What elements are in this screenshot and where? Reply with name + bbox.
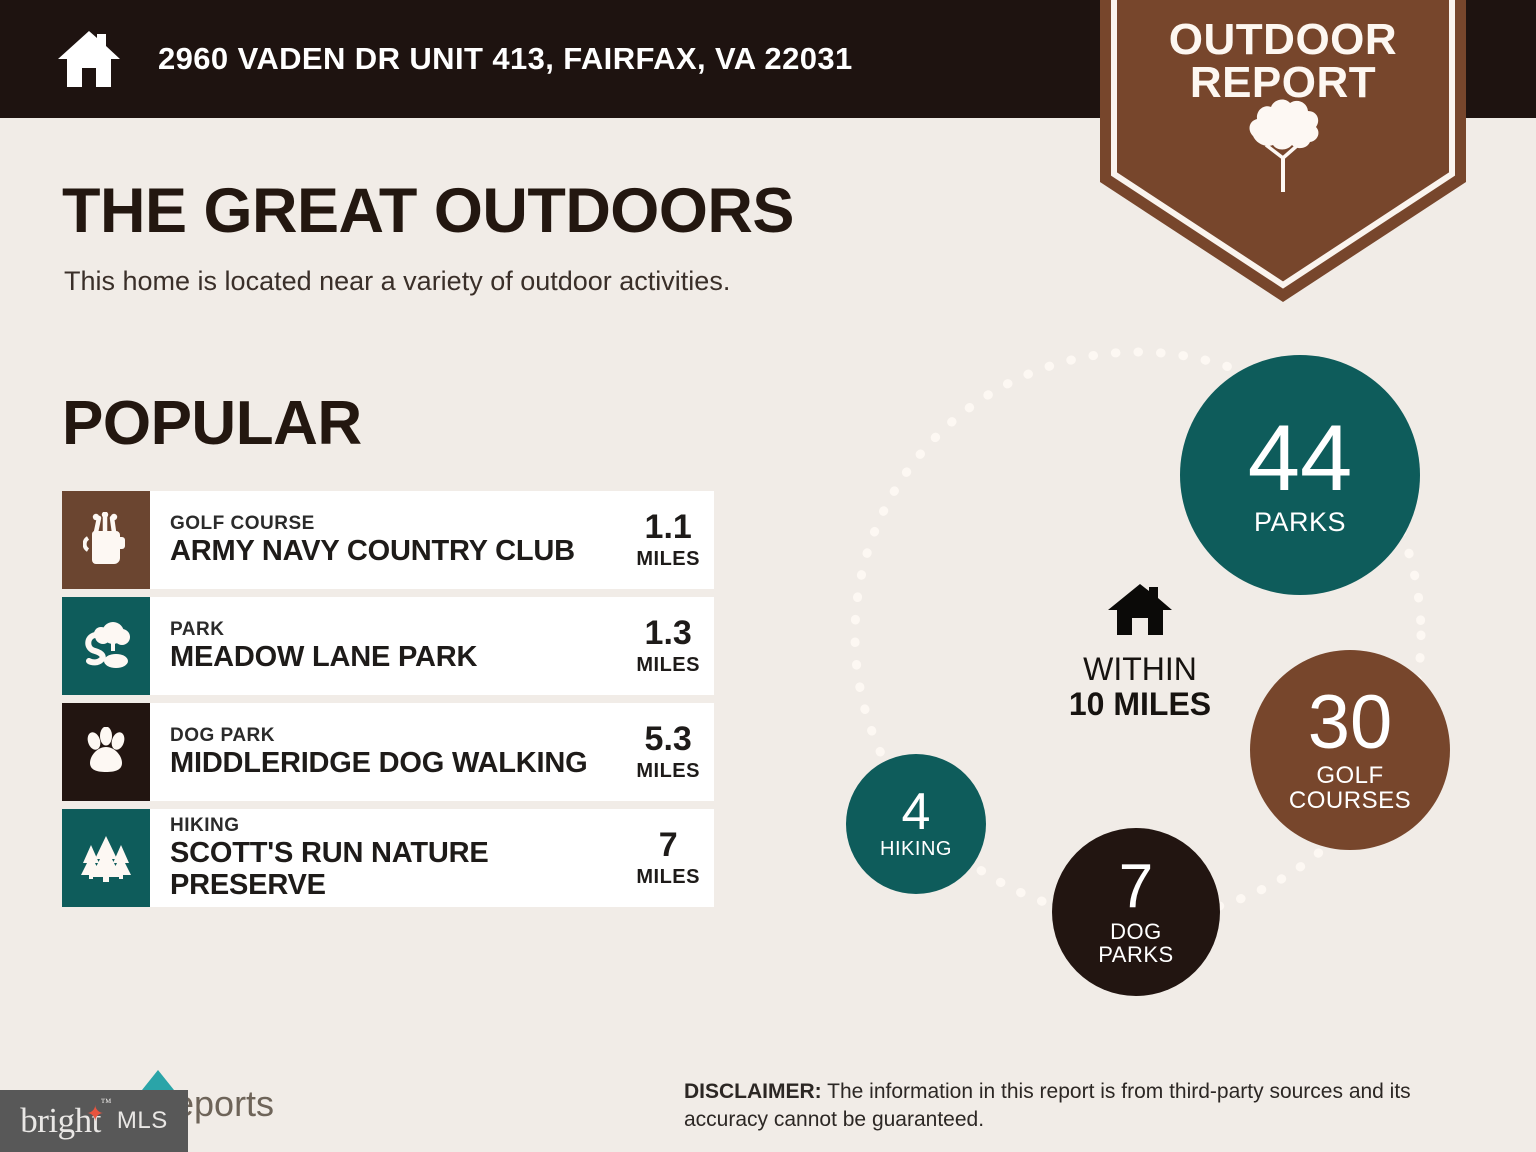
page-subtitle: This home is located near a variety of o…: [64, 266, 730, 297]
bright-mls-wordmark: bright ✦ ™: [20, 1101, 101, 1141]
distance-unit: MILES: [636, 654, 700, 677]
list-item-name: MIDDLERIDGE DOG WALKING: [170, 748, 628, 780]
bubble-golf-courses[interactable]: 30 GOLF COURSES: [1250, 650, 1450, 850]
badge-line-2: REPORT: [1100, 61, 1466, 104]
bubble-label: PARKS: [1254, 508, 1346, 536]
distance-value: 7: [636, 828, 700, 862]
page-title: THE GREAT OUTDOORS: [62, 175, 794, 247]
list-item-body: GOLF COURSE ARMY NAVY COUNTRY CLUB 1.1 M…: [150, 491, 714, 589]
distance-unit: MILES: [636, 548, 700, 571]
diagram-center-label: WITHIN 10 MILES: [1020, 580, 1260, 722]
badge-line-1: OUTDOOR: [1100, 18, 1466, 61]
disclaimer: DISCLAIMER: The information in this repo…: [684, 1078, 1484, 1135]
list-item-category: HIKING: [170, 814, 628, 838]
bubble-label: DOG PARKS: [1098, 920, 1173, 966]
pine-trees-icon: [62, 809, 150, 907]
list-item[interactable]: GOLF COURSE ARMY NAVY COUNTRY CLUB 1.1 M…: [62, 491, 714, 589]
list-item-category: GOLF COURSE: [170, 512, 628, 536]
bubble-label: GOLF COURSES: [1289, 763, 1411, 813]
bubble-value: 7: [1119, 858, 1153, 917]
home-icon: [1020, 580, 1260, 643]
list-item-name: ARMY NAVY COUNTRY CLUB: [170, 536, 628, 568]
list-item-body: PARK MEADOW LANE PARK 1.3 MILES: [150, 597, 714, 695]
center-line-2: 10 MILES: [1020, 687, 1260, 722]
list-item-category: PARK: [170, 618, 628, 642]
bubble-label-line-2: PARKS: [1098, 943, 1173, 966]
distance-unit: MILES: [636, 866, 700, 889]
golf-bag-icon: [62, 491, 150, 589]
list-item-category: DOG PARK: [170, 724, 628, 748]
bubble-value: 30: [1308, 687, 1393, 759]
logo-triangle-icon: [142, 1070, 174, 1090]
distance-value: 1.3: [636, 616, 700, 650]
badge-title: OUTDOOR REPORT: [1100, 18, 1466, 104]
center-line-1: WITHIN: [1020, 653, 1260, 687]
list-item-text: GOLF COURSE ARMY NAVY COUNTRY CLUB: [170, 512, 628, 568]
popular-heading: POPULAR: [62, 388, 362, 459]
paw-icon: [62, 703, 150, 801]
list-item-body: DOG PARK MIDDLERIDGE DOG WALKING 5.3 MIL…: [150, 703, 714, 801]
bubble-label: HIKING: [880, 839, 952, 860]
bubble-dog-parks[interactable]: 7 DOG PARKS: [1052, 828, 1220, 996]
bubble-parks[interactable]: 44 PARKS: [1180, 355, 1420, 595]
list-item-distance: 1.3 MILES: [628, 616, 700, 677]
list-item-distance: 7 MILES: [628, 828, 700, 889]
list-item-distance: 5.3 MILES: [628, 722, 700, 783]
disclaimer-label: DISCLAIMER:: [684, 1080, 822, 1103]
list-item[interactable]: HIKING SCOTT'S RUN NATURE PRESERVE 7 MIL…: [62, 809, 714, 907]
list-item-body: HIKING SCOTT'S RUN NATURE PRESERVE 7 MIL…: [150, 809, 714, 907]
bright-mls-logo: bright ✦ ™ MLS: [0, 1090, 188, 1152]
list-item[interactable]: DOG PARK MIDDLERIDGE DOG WALKING 5.3 MIL…: [62, 703, 714, 801]
park-tree-icon: [62, 597, 150, 695]
bubble-value: 4: [902, 788, 931, 837]
bubble-value: 44: [1248, 413, 1353, 502]
list-item[interactable]: PARK MEADOW LANE PARK 1.3 MILES: [62, 597, 714, 695]
list-item-name: MEADOW LANE PARK: [170, 642, 628, 674]
list-item-text: HIKING SCOTT'S RUN NATURE PRESERVE: [170, 814, 628, 902]
nearby-counts-diagram: WITHIN 10 MILES 44 PARKS 30 GOLF COURSES…: [790, 330, 1490, 1020]
home-icon: [56, 28, 122, 90]
distance-unit: MILES: [636, 760, 700, 783]
bubble-label-line-1: DOG: [1098, 920, 1173, 943]
list-item-distance: 1.1 MILES: [628, 510, 700, 571]
list-item-name: SCOTT'S RUN NATURE PRESERVE: [170, 838, 628, 902]
bubble-label-line-2: COURSES: [1289, 788, 1411, 813]
outdoor-report-badge: OUTDOOR REPORT: [1100, 0, 1466, 302]
distance-value: 1.1: [636, 510, 700, 544]
mls-text: MLS: [117, 1107, 168, 1135]
bubble-hiking[interactable]: 4 HIKING: [846, 754, 986, 894]
property-address: 2960 VADEN DR UNIT 413, FAIRFAX, VA 2203…: [158, 41, 853, 77]
distance-value: 5.3: [636, 722, 700, 756]
list-item-text: DOG PARK MIDDLERIDGE DOG WALKING: [170, 724, 628, 780]
bubble-label-line-1: GOLF: [1289, 763, 1411, 788]
list-item-text: PARK MEADOW LANE PARK: [170, 618, 628, 674]
trademark-icon: ™: [101, 1098, 111, 1109]
popular-list: GOLF COURSE ARMY NAVY COUNTRY CLUB 1.1 M…: [62, 491, 714, 915]
